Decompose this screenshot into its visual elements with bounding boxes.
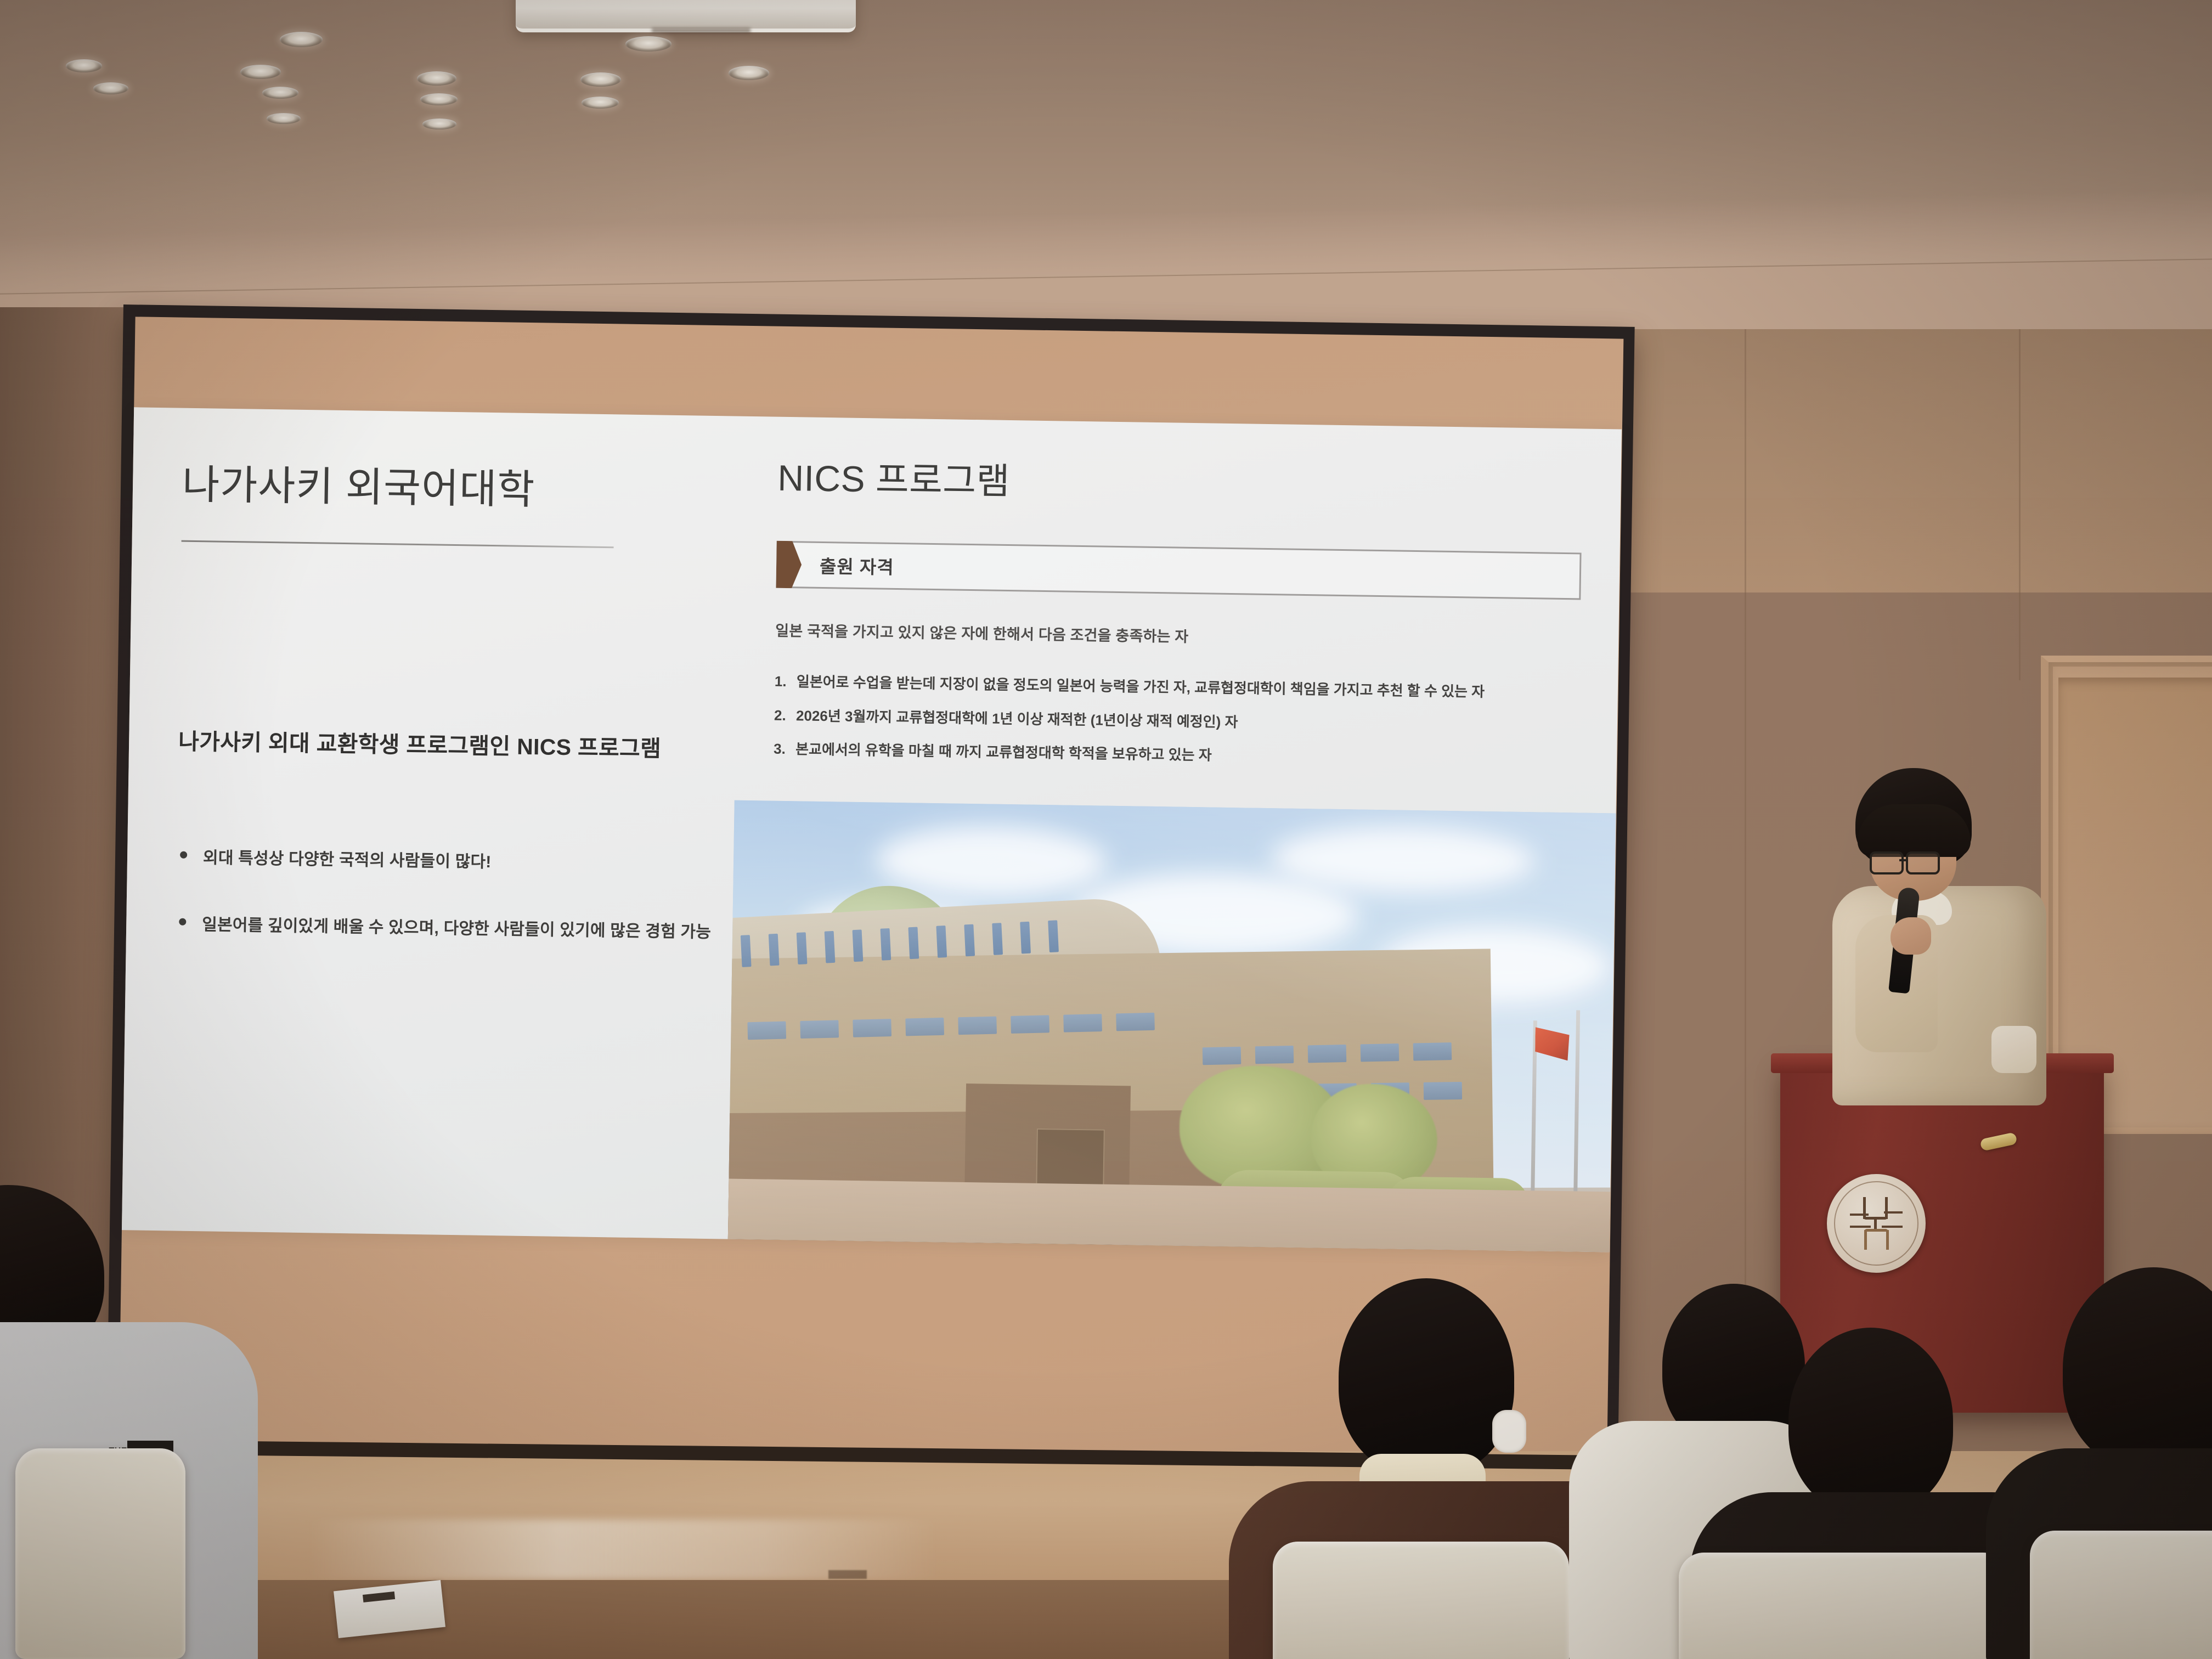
ceiling-downlight (280, 32, 323, 47)
slide-right-title: NICS 프로그램 (777, 449, 1583, 513)
slide-right-panel: NICS 프로그램 출원 자격 일본 국적을 가지고 있지 않은 자에 한해서 … (728, 416, 1622, 1252)
condition-number: 3. (774, 738, 786, 760)
ceiling-downlight (417, 71, 456, 86)
slide-left-bullet-list: 외대 특성상 다양한 국적의 사람들이 많다! 일본어를 깊이있게 배울 수 있… (176, 844, 695, 943)
audience-head (1788, 1328, 1953, 1514)
wall-seam (2019, 329, 2021, 680)
ceiling-downlight (66, 59, 102, 72)
bullet-item: 일본어를 깊이있게 배울 수 있으며, 다양한 사람들이 있기에 많은 경험 가… (176, 911, 695, 943)
presenter-sleeve-cuff (1991, 1026, 2036, 1073)
presenter-hand (1891, 917, 1931, 955)
condition-text: 일본어로 수업을 받는데 지장이 없을 정도의 일본어 능력을 가진 자, 교류… (797, 673, 1485, 700)
eligibility-intro-text: 일본 국적을 가지고 있지 않은 자에 한해서 다음 조건을 충족하는 자 (775, 619, 1580, 652)
condition-number: 2. (774, 704, 786, 726)
arrow-marker-icon (776, 541, 802, 589)
auditorium-chair[interactable] (15, 1448, 185, 1659)
ceiling-downlight (420, 93, 458, 105)
condition-number: 1. (775, 671, 787, 693)
auditorium-chair[interactable] (2030, 1531, 2212, 1659)
auditorium-chair[interactable] (1679, 1553, 2008, 1659)
audience-head (1339, 1278, 1514, 1476)
ceiling-downlight (582, 97, 619, 109)
campus-photo (728, 800, 1616, 1252)
lecture-hall-scene: 나가사키 외국어대학 나가사키 외대 교환학생 프로그램인 NICS 프로그램 … (0, 0, 2212, 1659)
photo-foreground-ground (728, 1178, 1616, 1252)
ceiling-downlight (625, 36, 672, 52)
audience-head (2063, 1267, 2212, 1470)
university-seal (1827, 1174, 1926, 1273)
slide-left-lead-text: 나가사키 외대 교환학생 프로그램인 NICS 프로그램 (178, 723, 697, 764)
photo-name-plaque (1036, 1128, 1105, 1192)
face-mask (1492, 1410, 1526, 1453)
glasses-icon (1870, 851, 1945, 872)
section-header-label: 출원 자격 (820, 552, 894, 579)
eligibility-condition-list: 1. 일본어로 수업을 받는데 지장이 없을 정도의 일본어 능력을 가진 자,… (774, 671, 1579, 772)
presenter (1827, 768, 2057, 1097)
slide-left-panel: 나가사키 외국어대학 나가사키 외대 교환학생 프로그램인 NICS 프로그램 … (122, 407, 740, 1239)
ceiling-downlight (267, 113, 301, 124)
ceiling-downlight (93, 82, 128, 94)
slide-left-title-rule (182, 540, 614, 549)
section-header-bar: 출원 자격 (776, 541, 1581, 600)
auditorium-chair[interactable] (1273, 1542, 1569, 1659)
floor-mark (828, 1570, 867, 1579)
ceiling-downlight (729, 66, 769, 80)
condition-text: 2026년 3월까지 교류협정대학에 1년 이상 재적한 (1년이상 재적 예정… (796, 707, 1238, 730)
bullet-item: 외대 특성상 다양한 국적의 사람들이 많다! (177, 844, 696, 876)
ceiling-downlight (580, 72, 621, 87)
ceiling-air-vent (516, 0, 856, 32)
slide-left-title: 나가사키 외국어대학 (182, 452, 701, 518)
condition-item: 3. 본교에서의 유학을 마칠 때 까지 교류협정대학 학적을 보유하고 있는 … (774, 738, 1578, 772)
presenter-hair-fringe (1858, 804, 1971, 857)
seal-glyph-icon (1848, 1195, 1905, 1252)
ceiling-downlight (422, 119, 456, 129)
condition-text: 본교에서의 유학을 마칠 때 까지 교류협정대학 학적을 보유하고 있는 자 (795, 741, 1212, 763)
condition-item: 2. 2026년 3월까지 교류협정대학에 1년 이상 재적한 (1년이상 재적… (774, 704, 1579, 738)
presentation-slide: 나가사키 외국어대학 나가사키 외대 교환학생 프로그램인 NICS 프로그램 … (122, 407, 1622, 1252)
condition-item: 1. 일본어로 수업을 받는데 지장이 없을 정도의 일본어 능력을 가진 자,… (775, 671, 1579, 704)
ceiling-downlight (240, 65, 281, 79)
ceiling-downlight (262, 87, 298, 99)
